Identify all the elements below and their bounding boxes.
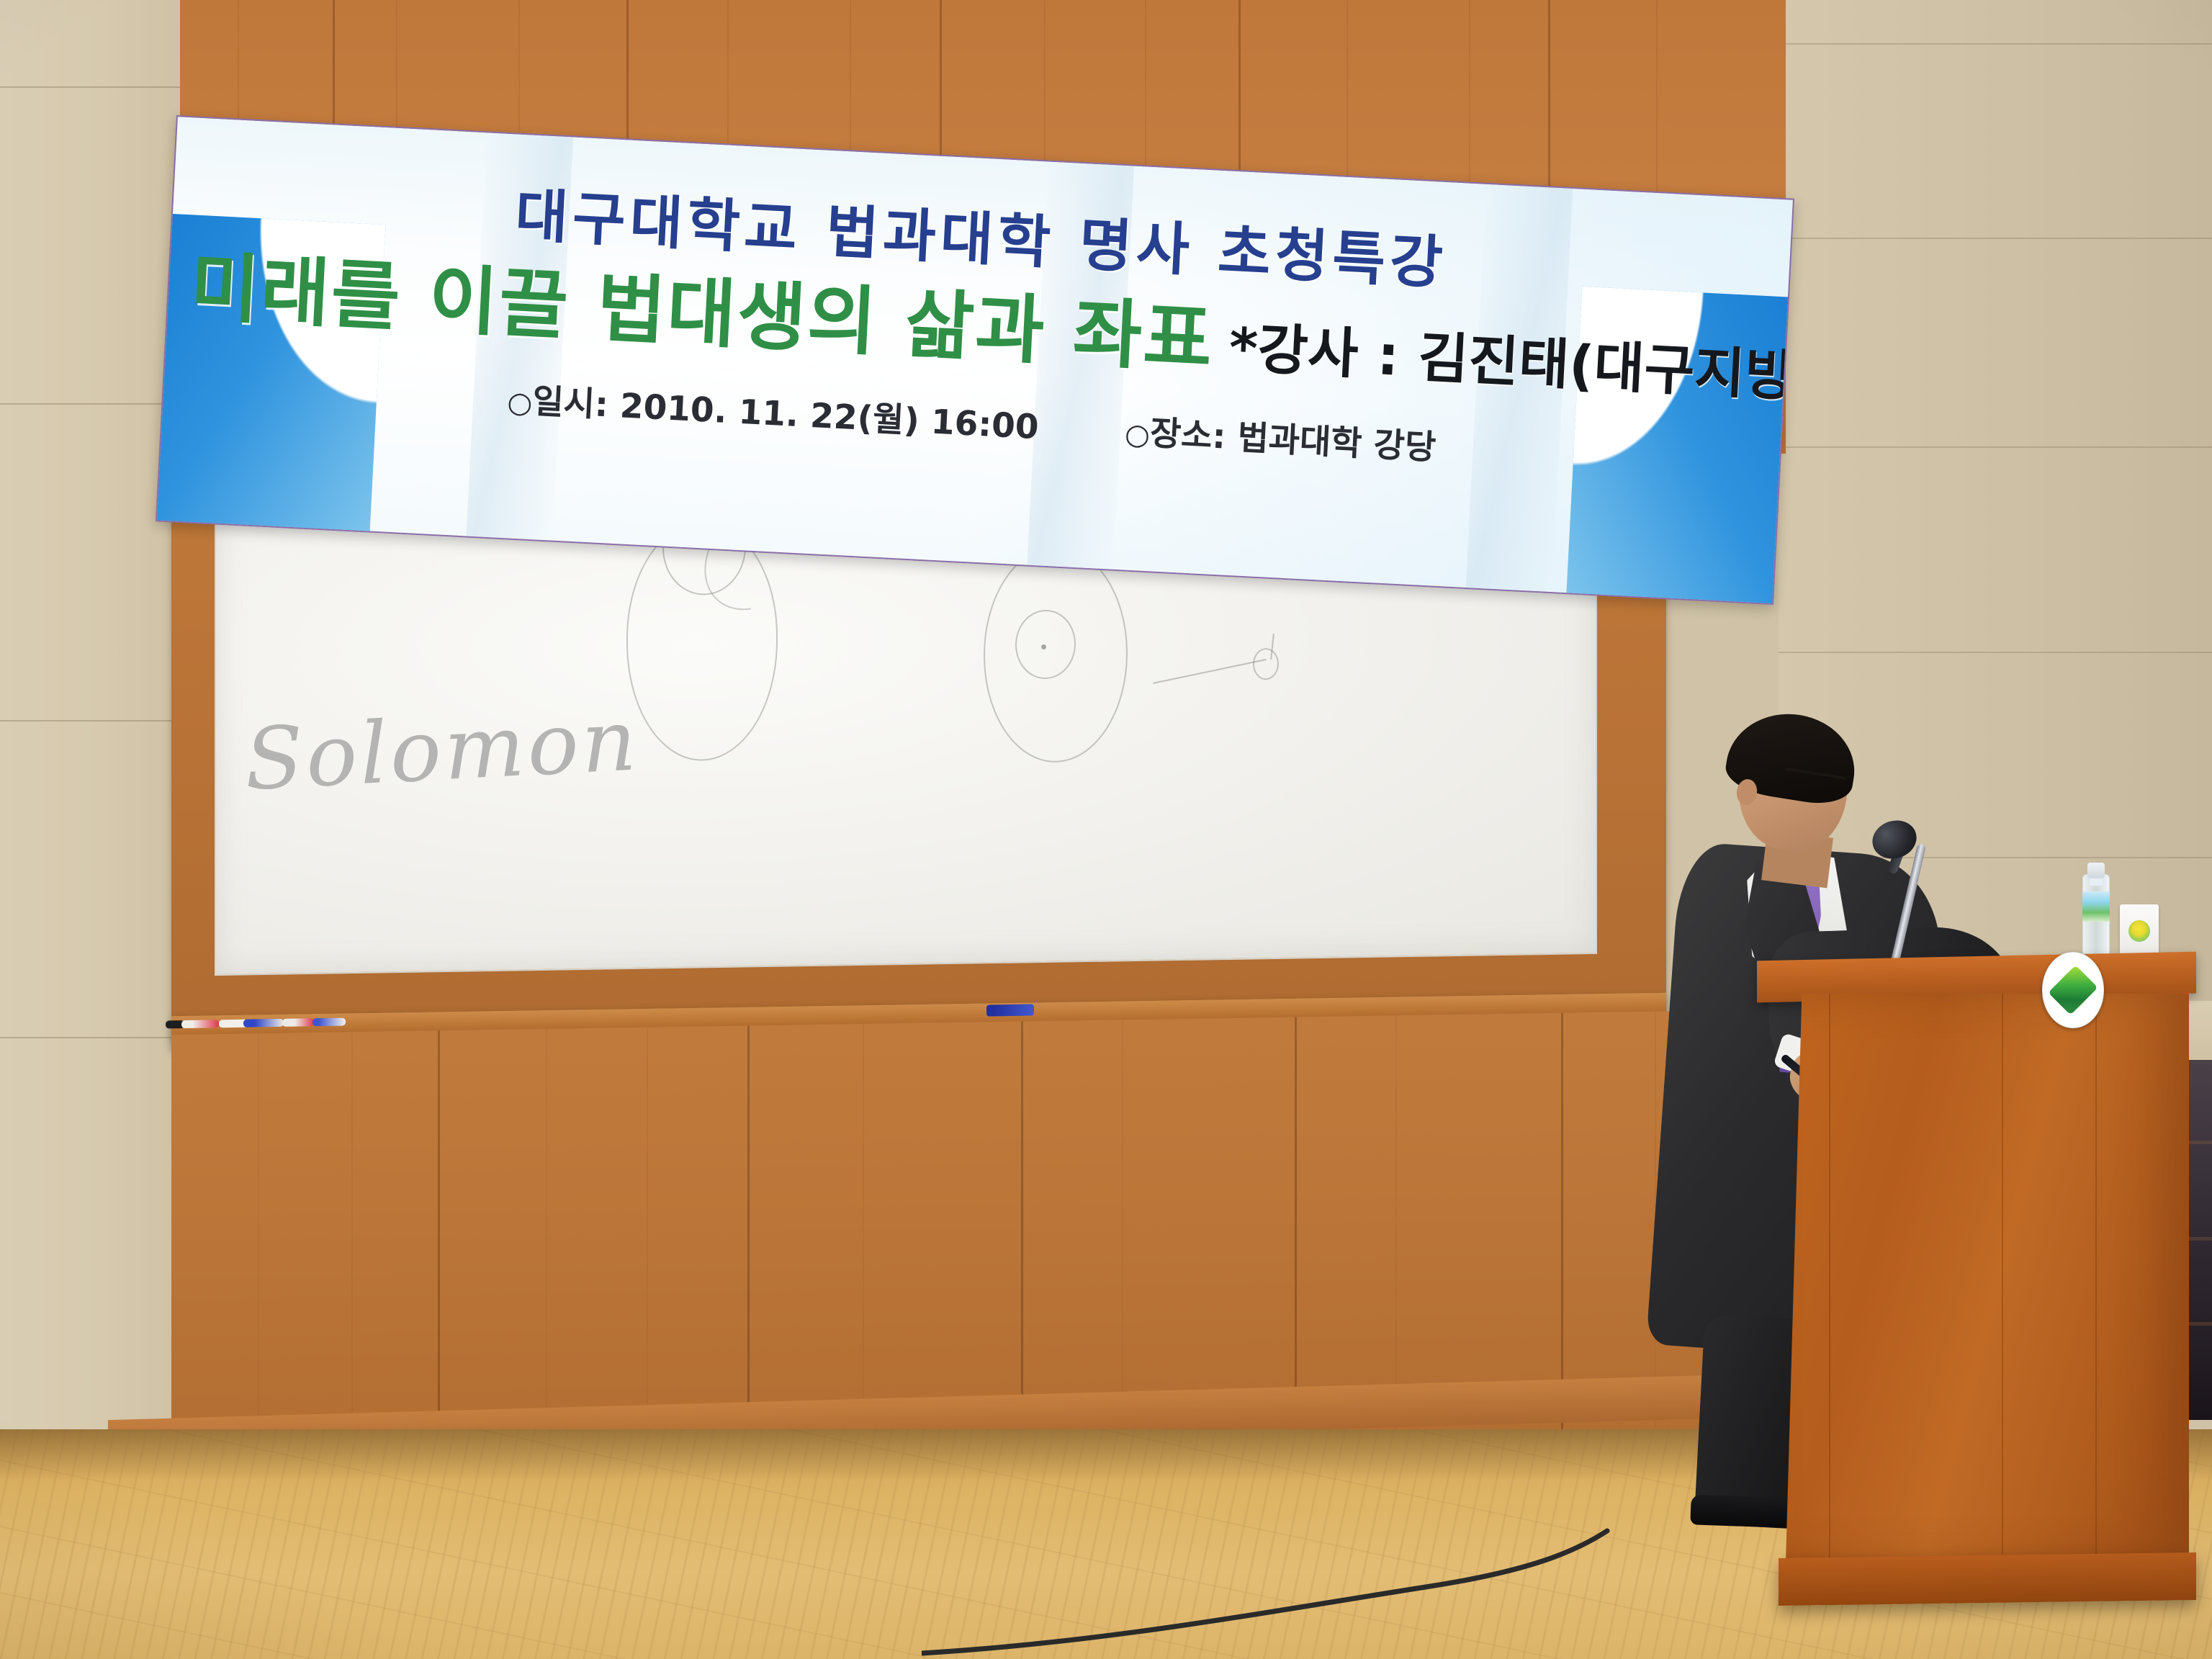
bottle-label: [2082, 891, 2110, 922]
podium-body: [1786, 994, 2189, 1563]
marker-red-2: [282, 1018, 314, 1027]
banner-date-text: 일시: 2010. 11. 22(월) 16:00: [531, 382, 1040, 447]
banner-speaker: *강사 : 김진태(대구지방검찰청 검사장): [1228, 303, 1794, 429]
paper-cup: [2120, 904, 2159, 956]
eraser-blue: [986, 1004, 1034, 1016]
shoe: [1690, 1494, 1803, 1528]
acoustic-wall-left: [0, 0, 186, 1469]
marker-blue: [243, 1019, 284, 1028]
bullet-circle-icon-2: ○: [1124, 418, 1151, 452]
event-banner: 대구대학교 법과대학 명사 초청특강 미래를 이끌 법대생의 삶과 좌표 *강사…: [156, 115, 1794, 605]
lecture-hall-photo: Solomon: [0, 0, 2212, 1659]
whiteboard-text-solomon: Solomon: [243, 690, 641, 809]
banner-place-text: 장소: 법과대학 강당: [1149, 413, 1437, 467]
podium-base: [1779, 1552, 2196, 1606]
bottle-cap: [2087, 863, 2105, 878]
water-bottle: [2080, 850, 2113, 958]
whiteboard-small-circle: [1253, 648, 1279, 680]
podium-seal-icon: [2042, 952, 2104, 1028]
bullet-circle-icon: ○: [506, 386, 533, 421]
marker-white-2: [313, 1018, 346, 1027]
marker-red: [181, 1020, 219, 1028]
banner-date: ○일시: 2010. 11. 22(월) 16:00: [506, 372, 1040, 449]
whiteboard-line: [1153, 659, 1266, 684]
cup-logo-icon: [2128, 920, 2150, 942]
banner-place: ○장소: 법과대학 강당: [1124, 403, 1437, 469]
